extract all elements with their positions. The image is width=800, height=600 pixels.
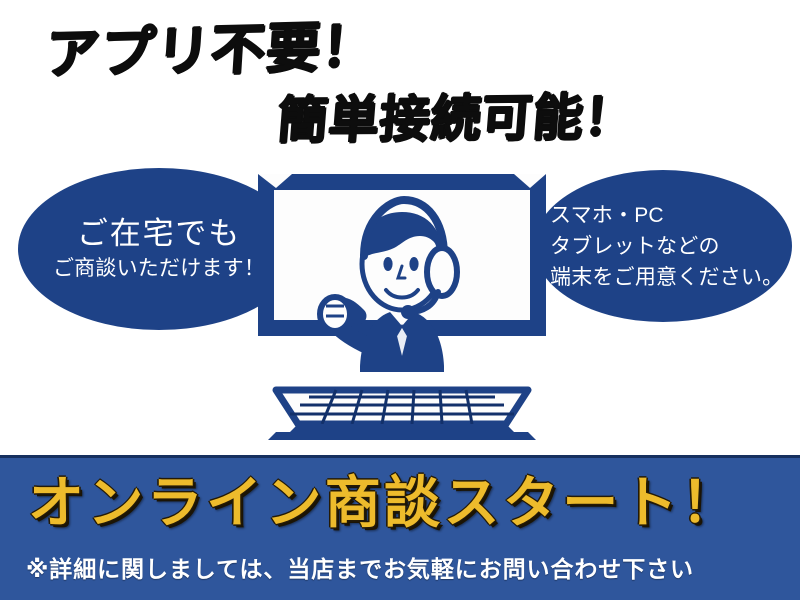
bottom-banner: オンライン商談スタート！ ※詳細に関しましては、当店までお気軽にお問い合わせ下さ…	[0, 455, 800, 600]
right-bubble-line-2: タブレットなどの	[550, 231, 720, 262]
banner-note: ※詳細に関しましては、当店までお気軽にお問い合わせ下さい	[26, 555, 694, 583]
right-bubble-line-1: スマホ・PC	[550, 200, 664, 231]
left-bubble-line-2: ご商談いただけます！	[53, 254, 265, 284]
illustration-svg	[252, 160, 552, 460]
banner-title: オンライン商談スタート！	[28, 471, 740, 537]
promo-poster: アプリ不要！ 簡単接続可能！ ご在宅でも ご商談いただけます！ スマホ・PC タ…	[0, 0, 800, 600]
online-meeting-illustration	[252, 160, 552, 460]
headline-primary: アプリ不要！	[44, 18, 379, 84]
right-bubble-line-3: 端末をご用意ください。	[550, 262, 783, 293]
headline-secondary: 簡単接続可能！	[276, 90, 637, 148]
left-bubble-line-1: ご在宅でも	[77, 214, 241, 254]
speech-bubble-right: スマホ・PC タブレットなどの 端末をご用意ください。	[534, 170, 792, 322]
keyboard-icon	[268, 390, 536, 440]
